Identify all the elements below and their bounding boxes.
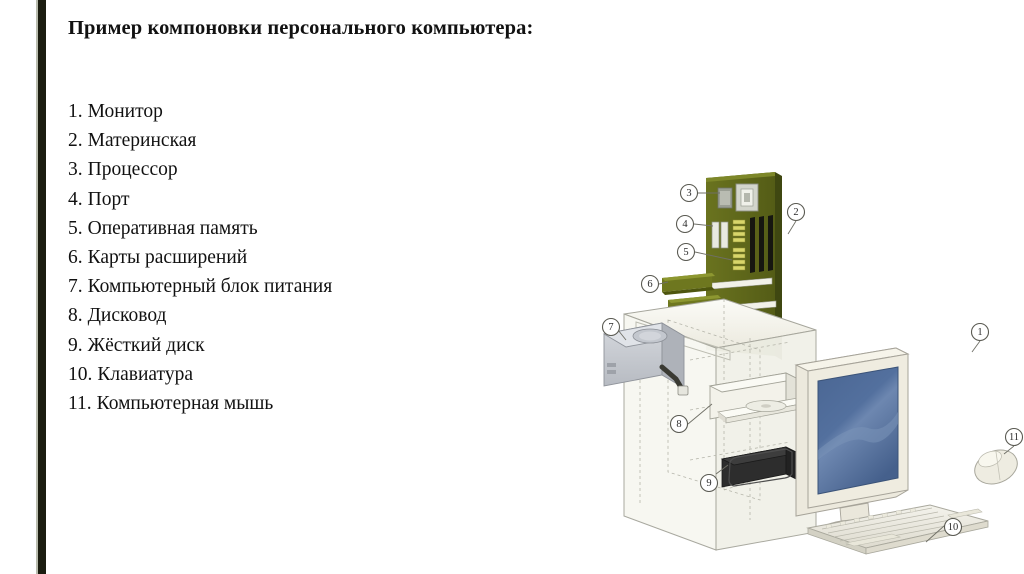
list-item-label: Карты расширений xyxy=(88,247,248,268)
list-item-number: 8. xyxy=(68,305,83,326)
callout-9-label: 9 xyxy=(706,478,711,489)
list-item: 11.Компьютерная мышь xyxy=(68,389,332,418)
component-list: 1.Монитор 2.Материнская 3.Процессор 4.По… xyxy=(68,97,332,418)
list-item: 10.Клавиатура xyxy=(68,360,332,389)
list-item: 5.Оперативная память xyxy=(68,214,332,243)
list-item: 3.Процессор xyxy=(68,155,332,184)
callout-3-label: 3 xyxy=(686,188,691,199)
list-item-label: Дисковод xyxy=(88,305,167,326)
callout-5: 5 xyxy=(678,244,695,261)
list-item: 8.Дисковод xyxy=(68,301,332,330)
list-item-label: Компьютерная мышь xyxy=(97,393,274,414)
callout-6-label: 6 xyxy=(647,279,652,290)
mouse-graphic xyxy=(970,444,1023,490)
list-item-label: Компьютерный блок питания xyxy=(88,276,333,297)
list-item-label: Материнская xyxy=(88,130,197,151)
page-title: Пример компоновки персонального компьюте… xyxy=(68,17,533,40)
slide-canvas: Пример компоновки персонального компьюте… xyxy=(0,0,1024,574)
list-item-label: Порт xyxy=(88,189,130,210)
callout-2-label: 2 xyxy=(793,207,798,218)
list-item-number: 2. xyxy=(68,130,83,151)
expansion-slot-graphic xyxy=(750,215,773,273)
callout-1-label: 1 xyxy=(977,327,982,338)
callout-9: 9 xyxy=(701,475,718,492)
list-item-number: 5. xyxy=(68,218,83,239)
pc-layout-diagram: 1 2 3 4 5 xyxy=(600,160,1024,560)
callout-8-label: 8 xyxy=(676,419,681,430)
callout-5-label: 5 xyxy=(683,247,688,258)
list-item-number: 4. xyxy=(68,189,83,210)
cpu-socket-graphic xyxy=(718,184,758,211)
callout-6: 6 xyxy=(642,276,659,293)
list-item-number: 7. xyxy=(68,276,83,297)
callout-7: 7 xyxy=(603,319,620,336)
list-item-number: 1. xyxy=(68,101,83,122)
callout-7-label: 7 xyxy=(608,322,613,333)
callout-11-label: 11 xyxy=(1009,432,1019,443)
list-item-number: 6. xyxy=(68,247,83,268)
list-item-label: Жёсткий диск xyxy=(88,335,205,356)
callout-11: 11 xyxy=(1006,429,1023,446)
callout-10-label: 10 xyxy=(948,522,959,533)
list-item: 6.Карты расширений xyxy=(68,243,332,272)
list-item-label: Клавиатура xyxy=(97,364,193,385)
list-item-label: Оперативная память xyxy=(88,218,258,239)
list-item: 9.Жёсткий диск xyxy=(68,331,332,360)
list-item: 7.Компьютерный блок питания xyxy=(68,272,332,301)
callout-4: 4 xyxy=(677,216,694,233)
callout-3: 3 xyxy=(681,185,698,202)
list-item: 2.Материнская xyxy=(68,126,332,155)
list-item: 1.Монитор xyxy=(68,97,332,126)
callout-4-label: 4 xyxy=(682,219,688,230)
callout-8: 8 xyxy=(671,416,688,433)
list-item-number: 9. xyxy=(68,335,83,356)
list-item: 4.Порт xyxy=(68,185,332,214)
list-item-number: 11. xyxy=(68,393,92,414)
callout-2: 2 xyxy=(788,204,805,221)
list-item-label: Процессор xyxy=(88,159,178,180)
accent-bar xyxy=(38,0,46,574)
list-item-number: 10. xyxy=(68,364,92,385)
list-item-label: Монитор xyxy=(88,101,163,122)
callout-1: 1 xyxy=(972,324,989,341)
callout-10: 10 xyxy=(945,519,962,536)
list-item-number: 3. xyxy=(68,159,83,180)
